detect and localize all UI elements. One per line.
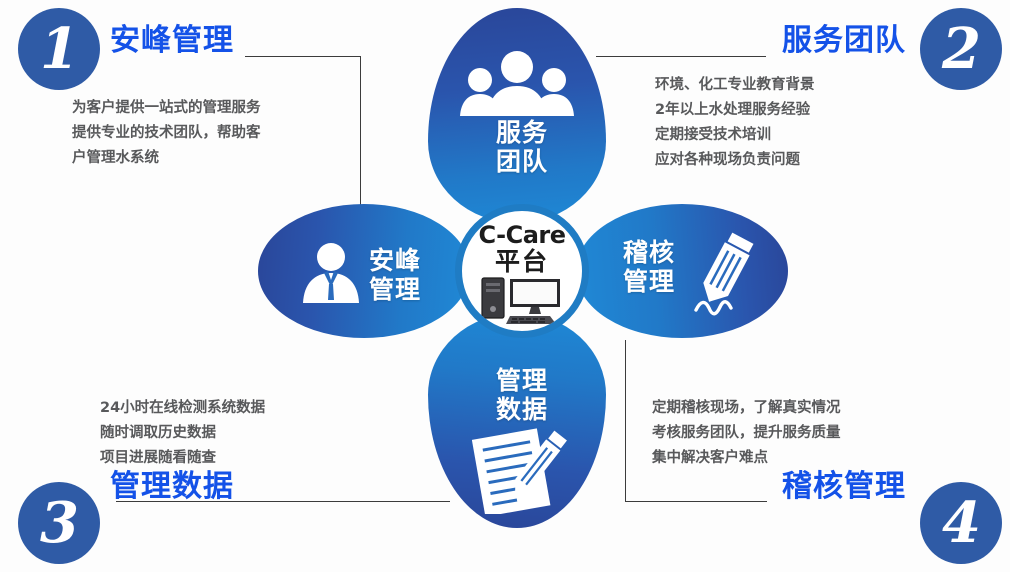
hub-title: C-Care: [478, 223, 565, 247]
quadrant-title-4: 稽核管理: [782, 472, 906, 502]
step-badge-3-number: 3: [40, 495, 78, 551]
petal-bottom-label-line-2: 数据: [258, 395, 786, 424]
petal-left-label-line-1: 安峰: [352, 246, 438, 275]
quadrant-body-3-line-1: 24小时在线检测系统数据: [100, 396, 265, 421]
hub-subtitle: 平台: [495, 249, 549, 274]
quadrant-body-1-line-3: 户管理水系统: [72, 146, 261, 171]
quadrant-body-1-line-2: 提供专业的技术团队，帮助客: [72, 121, 261, 146]
quadrant-body-3: 24小时在线检测系统数据 随时调取历史数据 项目进展随看随查: [100, 396, 265, 471]
desktop-computer-icon: [480, 276, 564, 326]
petal-left-label: 安峰 管理: [352, 246, 438, 304]
quadrant-body-3-line-3: 项目进展随看随查: [100, 446, 265, 471]
pencil-scribble-icon: [688, 230, 764, 320]
step-badge-1-number: 1: [40, 21, 78, 77]
quadrant-body-1: 为客户提供一站式的管理服务 提供专业的技术团队，帮助客 户管理水系统: [72, 96, 261, 171]
infographic-canvas: 1 2 3 4 安峰管理 服务团队 管理数据 稽核管理 为客户提供一站式的管理服…: [0, 0, 1010, 572]
quadrant-title-3: 管理数据: [110, 472, 234, 502]
petal-top-label: 服务 团队: [258, 118, 786, 176]
petal-left-label-line-2: 管理: [352, 275, 438, 304]
step-badge-3: 3: [18, 482, 100, 564]
petal-bottom-label-line-1: 管理: [258, 366, 786, 395]
group-of-people-icon: [460, 50, 574, 116]
petal-right-label-line-2: 管理: [606, 267, 692, 296]
quadrant-title-2: 服务团队: [782, 26, 906, 56]
clipboard-pencil-icon: [472, 428, 568, 514]
center-hub[interactable]: C-Care 平台: [455, 204, 589, 338]
quadrant-title-1: 安峰管理: [110, 26, 234, 56]
petal-top-label-line-1: 服务: [258, 118, 786, 147]
step-badge-2: 2: [920, 8, 1002, 90]
quadrant-body-3-line-2: 随时调取历史数据: [100, 421, 265, 446]
petal-right-label-line-1: 稽核: [606, 238, 692, 267]
step-badge-4-number: 4: [942, 495, 980, 551]
flower-diagram: 安峰 管理 稽核 管理: [258, 8, 786, 528]
step-badge-4: 4: [920, 482, 1002, 564]
quadrant-body-1-line-1: 为客户提供一站式的管理服务: [72, 96, 261, 121]
step-badge-2-number: 2: [942, 21, 980, 77]
step-badge-1: 1: [18, 8, 100, 90]
petal-top-label-line-2: 团队: [258, 147, 786, 176]
petal-right-label: 稽核 管理: [606, 238, 692, 296]
petal-bottom-label: 管理 数据: [258, 366, 786, 424]
